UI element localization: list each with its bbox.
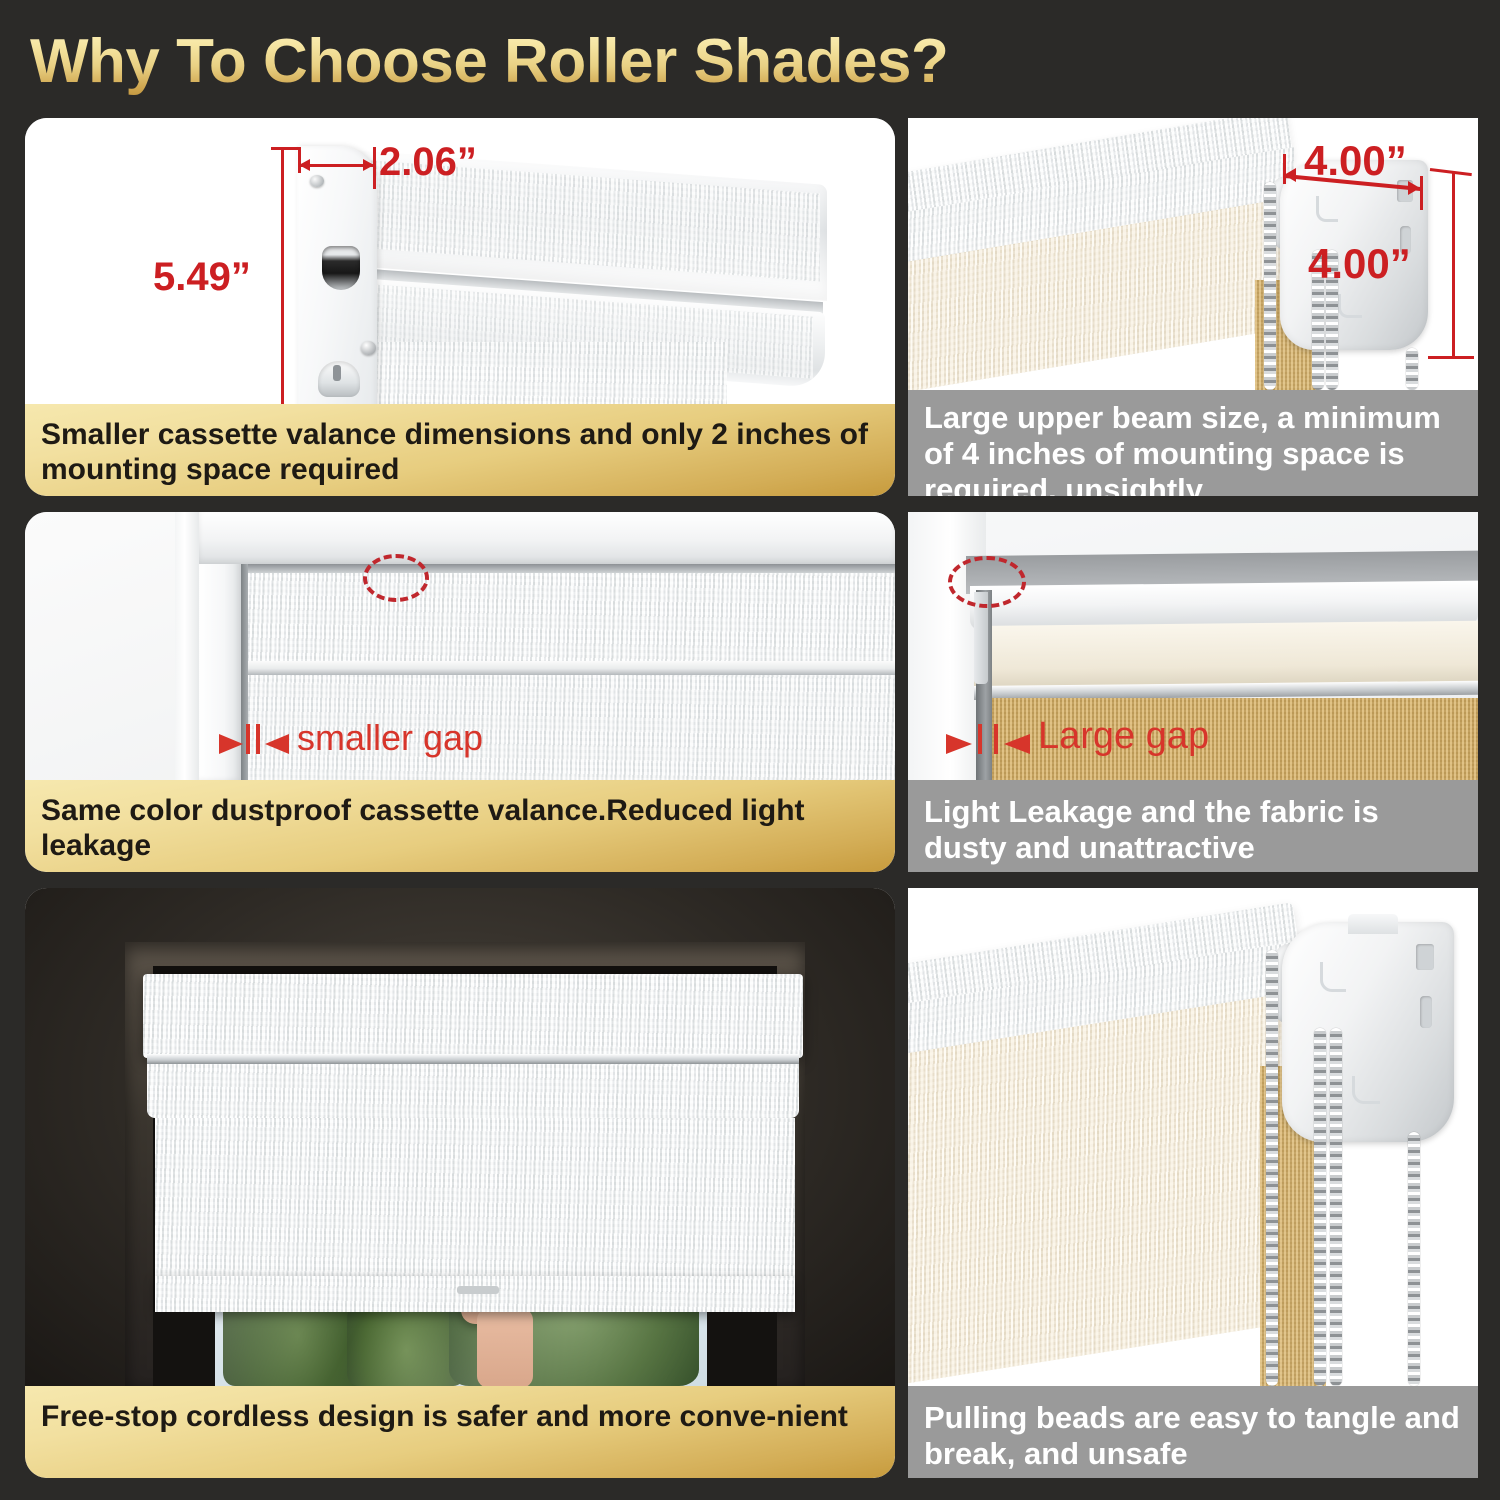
- bead-chain-tail: [1406, 348, 1418, 390]
- shade-cassette-lower-lip: [147, 1064, 799, 1118]
- window-head-jamb: [199, 512, 895, 564]
- caption-cassette-dimensions: Smaller cassette valance dimensions and …: [25, 404, 895, 496]
- cassette-rail-divider: [243, 661, 895, 675]
- beam-width-arrow-left: [1284, 168, 1296, 182]
- light-leakage-photo: Large gap: [908, 512, 1478, 780]
- panel-pulling-beads: Pulling beads are easy to tangle and bre…: [908, 888, 1478, 1478]
- beam-width-arrow-right: [1408, 181, 1420, 195]
- height-dim-label: 5.49”: [153, 255, 251, 300]
- cassette-screw-top: [310, 175, 324, 187]
- height-dim-tick-top: [271, 147, 301, 150]
- caption-cordless-free-stop: Free-stop cordless design is safer and m…: [25, 1386, 895, 1478]
- infographic-root: Why To Choose Roller Shades?: [0, 0, 1500, 1500]
- panel-light-leakage-gap: Large gap Light Leakage and the fabric i…: [908, 512, 1478, 872]
- window-jamb-outer: [175, 512, 199, 780]
- pulling-beads-photo: [908, 888, 1478, 1386]
- beads-bracket-emboss-lower: [1352, 1076, 1380, 1104]
- panel-cassette-dimensions: 2.06” 5.49” Smaller cassette valance dim…: [25, 118, 895, 496]
- bracket-emboss-upper: [1316, 196, 1338, 222]
- window-reveal-left: [153, 1312, 215, 1386]
- beam-height-label: 4.00”: [1308, 240, 1411, 288]
- cassette-product-photo: 2.06” 5.49”: [25, 118, 895, 404]
- smaller-gap-label: smaller gap: [297, 717, 483, 759]
- shade-cassette-valance: [143, 974, 803, 1058]
- cassette-highlight-circle: [363, 554, 429, 602]
- bead-chain-front: [1264, 182, 1276, 390]
- width-dim-arrow-left: [299, 159, 310, 171]
- large-gap-label: Large gap: [1038, 715, 1209, 758]
- cassette-screw-mid: [361, 341, 376, 355]
- window-cassette-photo: smaller gap: [25, 512, 895, 780]
- large-gap-tick-a: [978, 724, 982, 754]
- panel-dustproof-cassette-gap: smaller gap Same color dustproof cassett…: [25, 512, 895, 872]
- panel-cordless-free-stop: Free-stop cordless design is safer and m…: [25, 888, 895, 1478]
- pulling-bead-chain-4: [1408, 1132, 1420, 1386]
- page-title: Why To Choose Roller Shades?: [30, 22, 1090, 102]
- beads-bracket-emboss-upper: [1320, 962, 1346, 992]
- large-gap-arrow-left: [946, 734, 972, 754]
- cassette-fabric-upper: [243, 573, 895, 661]
- beam-height-line: [1452, 172, 1455, 358]
- cassette-bottom-clip-notch: [333, 365, 341, 381]
- beam-height-tick-bottom: [1428, 356, 1474, 359]
- width-dim-label: 2.06”: [379, 140, 477, 185]
- shade-cassette-groove: [147, 1054, 799, 1064]
- upper-beam-product-photo: 4.00” 4.00”: [908, 118, 1478, 390]
- shade-fabric-main: [155, 1118, 795, 1276]
- gap-arrow-right: [265, 734, 289, 754]
- beam-width-tick-right: [1420, 176, 1423, 210]
- pulling-bead-chain-1: [1266, 950, 1278, 1386]
- panel-upper-beam-dimensions: 4.00” 4.00” Large upper beam size, a min…: [908, 118, 1478, 496]
- cassette-valance-edge: [241, 564, 895, 573]
- beam-height-tick-top: [1430, 168, 1472, 176]
- caption-upper-beam-dimensions: Large upper beam size, a minimum of 4 in…: [908, 390, 1478, 496]
- caption-dustproof-cassette-gap: Same color dustproof cassette valance.Re…: [25, 780, 895, 872]
- pulling-bead-chain-2: [1314, 1028, 1326, 1386]
- gap-tick-a: [246, 724, 250, 754]
- cream-fabric-band: [974, 621, 1478, 688]
- caption-pulling-beads: Pulling beads are easy to tangle and bre…: [908, 1386, 1478, 1478]
- shade-bottom-rail: [155, 1276, 795, 1312]
- gap-arrow-left: [219, 734, 243, 754]
- cassette-clutch-slot: [322, 246, 360, 290]
- beads-bracket-top-tab: [1348, 914, 1398, 934]
- beads-bracket-slot-top: [1416, 944, 1434, 970]
- large-gap-arrow-right: [1004, 734, 1030, 754]
- large-gap-tick-b: [994, 724, 998, 754]
- shade-bottom-rail-pull: [457, 1286, 499, 1294]
- gap-tick-b: [256, 724, 260, 754]
- pulling-bead-chain-3: [1330, 1028, 1342, 1386]
- beige-main-fabric: [908, 993, 1288, 1386]
- gap-highlight-circle: [948, 556, 1026, 608]
- beam-width-label: 4.00”: [1304, 137, 1407, 185]
- bracket-emboss-lower: [1338, 294, 1362, 318]
- caption-light-leakage-gap: Light Leakage and the fabric is dusty an…: [908, 780, 1478, 872]
- window-reveal-right: [707, 1312, 777, 1386]
- hand-forearm: [477, 1308, 533, 1386]
- beads-bracket-slot-mid: [1420, 996, 1432, 1028]
- height-dim-line: [281, 149, 284, 404]
- window-room-photo: [25, 888, 895, 1386]
- width-dim-arrow-right: [363, 159, 374, 171]
